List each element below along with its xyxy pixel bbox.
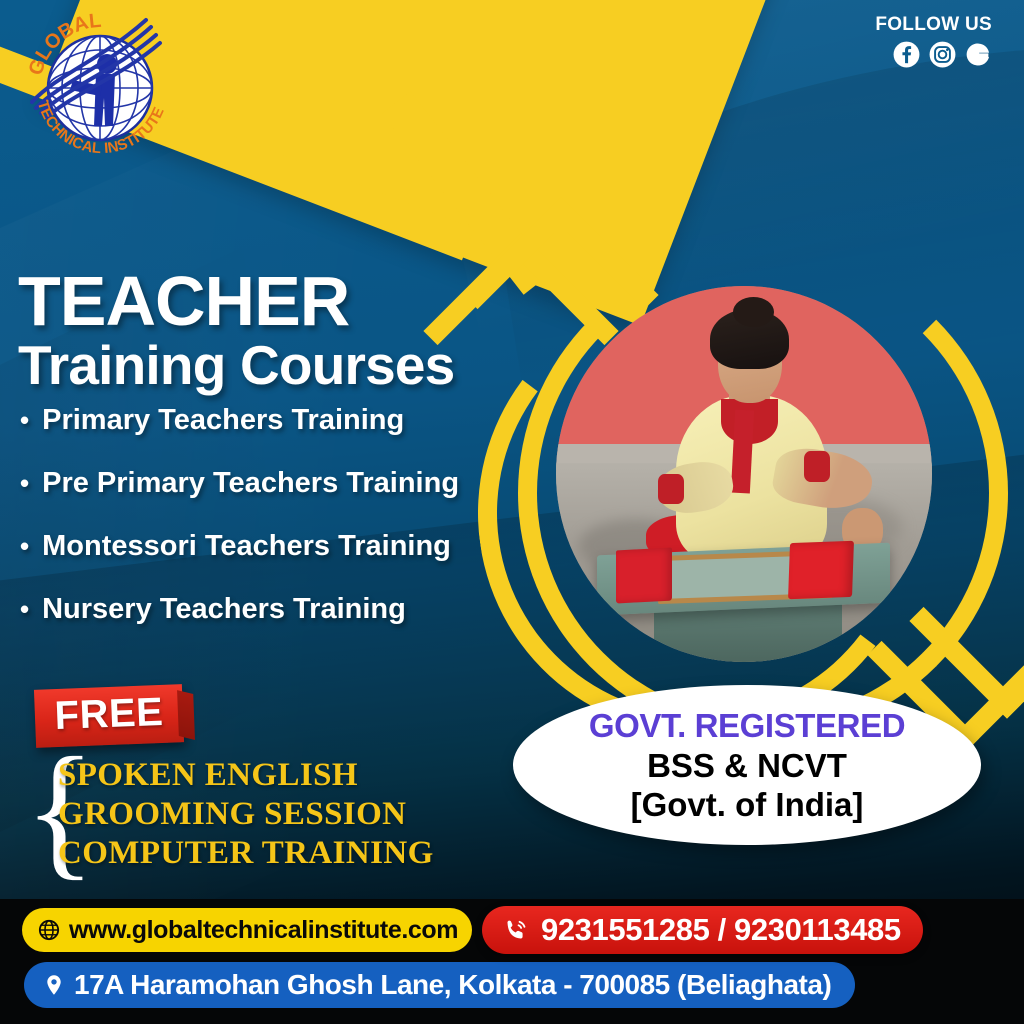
list-item: • Nursery Teachers Training [20,593,490,626]
follow-us-block: FOLLOW US [875,14,992,68]
facebook-icon[interactable] [893,41,920,68]
course-label: Montessori Teachers Training [42,530,451,563]
instagram-icon[interactable] [929,41,956,68]
institute-logo: GLOBAL TECHNICAL INSTITUTE [18,6,183,161]
location-pin-icon [42,973,66,997]
address-text: 17A Haramohan Ghosh Lane, Kolkata - 7000… [74,969,831,1001]
headline-secondary: Training Courses [18,338,454,393]
list-item: • Pre Primary Teachers Training [20,467,490,500]
headline-primary: TEACHER [18,268,349,335]
phone-numbers: 9231551285 / 9230113485 [541,912,901,948]
phone-pill[interactable]: 9231551285 / 9230113485 [482,906,923,954]
free-offer-item: GROOMING SESSION [58,795,434,834]
bullet-icon: • [20,533,29,559]
follow-us-label: FOLLOW US [875,14,992,36]
accreditation-line-2: BSS & NCVT [647,747,847,785]
globe-icon [38,919,60,941]
bullet-icon: • [20,407,29,433]
poster-canvas: GLOBAL TECHNICAL INSTITUTE FOLLOW US TEA… [0,0,1024,1024]
address-pill[interactable]: 17A Haramohan Ghosh Lane, Kolkata - 7000… [24,962,855,1008]
google-icon[interactable] [965,41,992,68]
accreditation-line-1: GOVT. REGISTERED [589,707,905,745]
list-item: • Primary Teachers Training [20,404,490,437]
free-offer-item: SPOKEN ENGLISH [58,756,434,795]
website-pill[interactable]: www.globaltechnicalinstitute.com [22,908,472,952]
accreditation-badge: GOVT. REGISTERED BSS & NCVT [Govt. of In… [513,685,981,845]
list-item: • Montessori Teachers Training [20,530,490,563]
student-photo [556,286,932,662]
course-list: • Primary Teachers Training • Pre Primar… [20,404,490,656]
phone-icon [502,917,529,944]
bullet-icon: • [20,596,29,622]
course-label: Primary Teachers Training [42,404,404,437]
accreditation-line-3: [Govt. of India] [631,786,864,824]
website-url: www.globaltechnicalinstitute.com [69,916,458,945]
free-offer-list: SPOKEN ENGLISH GROOMING SESSION COMPUTER… [58,756,434,873]
bullet-icon: • [20,470,29,496]
course-label: Nursery Teachers Training [42,593,406,626]
course-label: Pre Primary Teachers Training [42,467,459,500]
free-offer-item: COMPUTER TRAINING [58,834,434,873]
